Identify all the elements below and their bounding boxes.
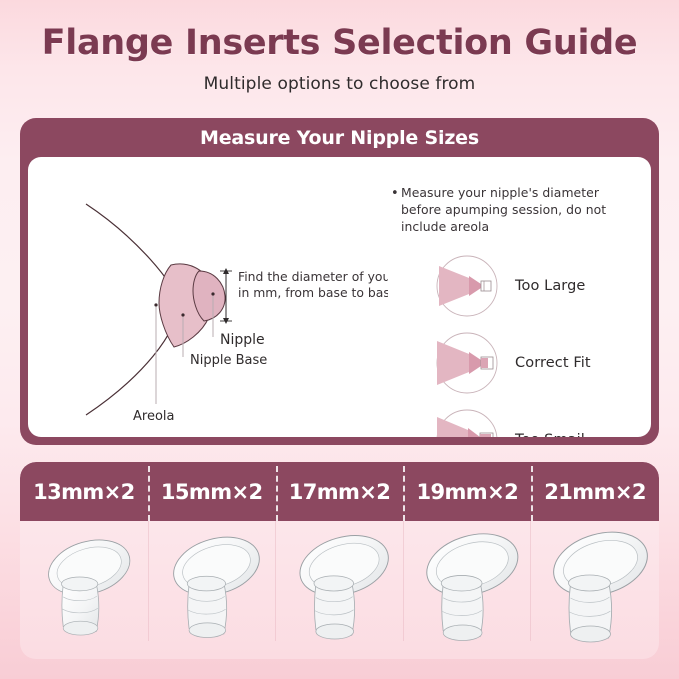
fit-info-column: • Measure your nipple's diameter before … xyxy=(383,157,651,437)
size-tab-13mm[interactable]: 13mm×2 xyxy=(20,462,148,521)
size-tab-15mm[interactable]: 15mm×2 xyxy=(148,462,276,521)
diagram-callout-line1: Find the diameter of your nipple xyxy=(238,269,388,284)
fit-example-label: Too Large xyxy=(515,278,585,294)
size-tab-label: 19mm×2 xyxy=(416,480,518,504)
measure-instruction-text: Measure your nipple's diameter before ap… xyxy=(401,184,643,235)
measure-panel: Measure Your Nipple Sizes xyxy=(20,118,659,445)
size-tab-label: 15mm×2 xyxy=(161,480,263,504)
fit-example-too-small: Too Smail xyxy=(383,401,651,437)
infographic-page: Flange Inserts Selection Guide Multiple … xyxy=(0,0,679,679)
sizes-panel: 13mm×2 15mm×2 17mm×2 19mm×2 21mm×2 xyxy=(20,462,659,659)
fit-examples-list: Too Large Cor xyxy=(383,247,651,437)
fit-example-too-large: Too Large xyxy=(383,247,651,324)
flange-insert-icon xyxy=(32,528,136,652)
measure-panel-header: Measure Your Nipple Sizes xyxy=(20,118,659,158)
size-product-cell-19mm xyxy=(403,521,531,659)
fit-example-label: Correct Fit xyxy=(515,355,591,371)
measure-panel-body: Find the diameter of your nipple in mm, … xyxy=(28,157,651,437)
flange-fit-too-large-icon xyxy=(431,250,503,322)
measure-panel-header-title: Measure Your Nipple Sizes xyxy=(200,127,479,149)
diagram-label-nipple: Nipple xyxy=(220,332,265,348)
size-tab-label: 17mm×2 xyxy=(289,480,391,504)
breast-anatomy-diagram: Find the diameter of your nipple in mm, … xyxy=(28,157,388,437)
size-product-cell-17mm xyxy=(275,521,403,659)
bullet-marker: • xyxy=(391,184,401,235)
flange-fit-correct-icon xyxy=(431,327,503,399)
flange-insert-icon xyxy=(405,522,528,658)
fit-example-label: Too Smail xyxy=(515,432,585,438)
size-tab-label: 13mm×2 xyxy=(33,480,135,504)
flange-insert-icon xyxy=(280,524,397,656)
diagram-callout-line2: in mm, from base to base xyxy=(238,285,388,300)
title-block: Flange Inserts Selection Guide Multiple … xyxy=(0,0,679,94)
size-tabs: 13mm×2 15mm×2 17mm×2 19mm×2 21mm×2 xyxy=(20,462,659,521)
page-title: Flange Inserts Selection Guide xyxy=(0,24,679,63)
size-tab-label: 21mm×2 xyxy=(544,480,646,504)
flange-insert-icon xyxy=(156,526,266,654)
size-tab-21mm[interactable]: 21mm×2 xyxy=(531,462,659,521)
size-product-cell-15mm xyxy=(148,521,276,659)
size-product-cell-21mm xyxy=(530,521,659,659)
diagram-label-areola: Areola xyxy=(133,409,174,424)
page-subtitle: Multiple options to choose from xyxy=(0,74,679,94)
size-product-cell-13mm xyxy=(20,521,148,659)
size-tab-19mm[interactable]: 19mm×2 xyxy=(403,462,531,521)
diagram-label-nipple-base: Nipple Base xyxy=(190,353,267,368)
measure-instruction: • Measure your nipple's diameter before … xyxy=(383,157,651,235)
fit-example-correct-fit: Correct Fit xyxy=(383,324,651,401)
size-product-row xyxy=(20,521,659,659)
size-tab-17mm[interactable]: 17mm×2 xyxy=(276,462,404,521)
flange-insert-icon xyxy=(530,520,659,659)
flange-fit-too-small-icon xyxy=(431,404,503,438)
